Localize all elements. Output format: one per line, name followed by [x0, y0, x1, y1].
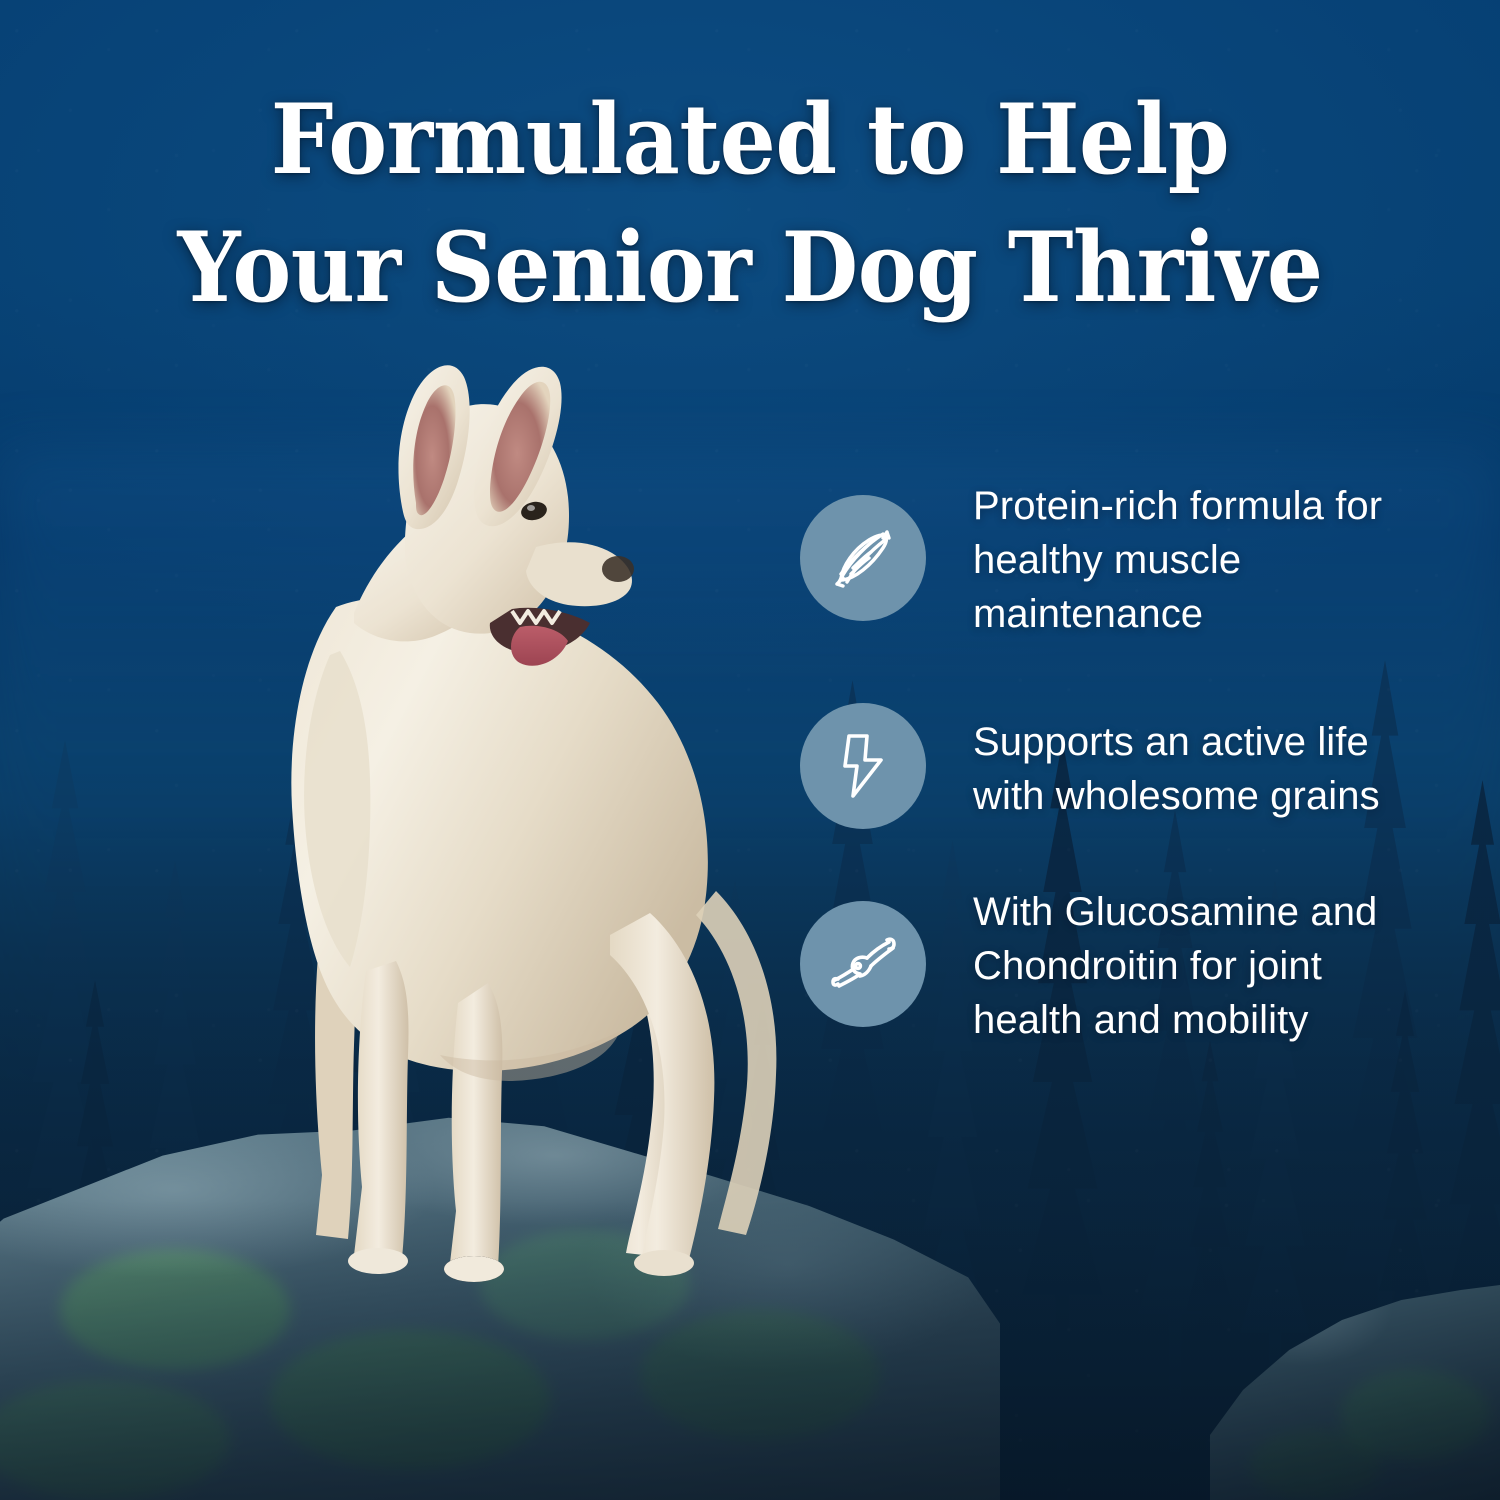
feature-list: Protein-rich formula for healthy muscle … — [800, 495, 1440, 1047]
feature-label-active-life: Supports an active life with wholesome g… — [973, 711, 1440, 823]
feature-label-protein: Protein-rich formula for healthy muscle … — [973, 475, 1440, 641]
promo-card: Formulated to Help Your Senior Dog Thriv… — [0, 0, 1500, 1500]
bone-joint-icon — [800, 901, 926, 1027]
feature-label-joint-health: With Glucosamine and Chondroitin for joi… — [973, 881, 1440, 1047]
headline-line-2: Your Senior Dog Thrive — [143, 204, 1357, 332]
headline-line-1: Formulated to Help — [143, 76, 1357, 204]
dog-photo-subject — [140, 355, 780, 1285]
feature-item-joint-health: With Glucosamine and Chondroitin for joi… — [800, 901, 1440, 1047]
muscle-fiber-icon — [800, 495, 926, 621]
feature-item-protein: Protein-rich formula for healthy muscle … — [800, 495, 1440, 641]
feature-item-active-life: Supports an active life with wholesome g… — [800, 703, 1440, 829]
lightning-bolt-icon — [800, 703, 926, 829]
page-title: Formulated to Help Your Senior Dog Thriv… — [60, 76, 1440, 332]
rock-secondary — [1210, 1250, 1500, 1500]
